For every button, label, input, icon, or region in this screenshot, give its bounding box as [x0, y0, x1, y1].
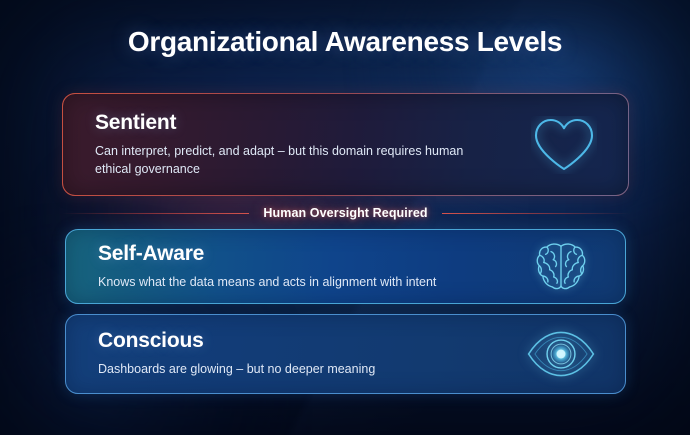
level-card-self-aware-description: Knows what the data means and acts in al…	[98, 273, 498, 291]
heart-icon	[528, 114, 600, 176]
level-card-conscious-body: Conscious Dashboards are glowing – but n…	[98, 315, 505, 393]
level-card-sentient-heading: Sentient	[95, 111, 508, 135]
page-title: Organizational Awareness Levels	[0, 26, 690, 58]
level-card-conscious-description: Dashboards are glowing – but no deeper m…	[98, 360, 498, 378]
infographic-slide: Organizational Awareness Levels Sentient…	[0, 0, 690, 435]
level-card-sentient[interactable]: Sentient Can interpret, predict, and ada…	[62, 93, 629, 196]
eye-icon	[525, 323, 597, 385]
brain-icon	[525, 236, 597, 298]
level-card-sentient-body: Sentient Can interpret, predict, and ada…	[95, 94, 508, 195]
level-card-self-aware[interactable]: Self-Aware Knows what the data means and…	[65, 229, 626, 304]
level-card-sentient-description: Can interpret, predict, and adapt – but …	[95, 142, 495, 178]
level-card-conscious[interactable]: Conscious Dashboards are glowing – but n…	[65, 314, 626, 394]
level-card-self-aware-heading: Self-Aware	[98, 242, 505, 266]
level-card-conscious-heading: Conscious	[98, 329, 505, 353]
divider-line-left	[62, 213, 249, 214]
divider-label: Human Oversight Required	[249, 206, 441, 220]
divider: Human Oversight Required	[62, 203, 629, 223]
divider-line-right	[442, 213, 629, 214]
level-card-self-aware-body: Self-Aware Knows what the data means and…	[98, 230, 505, 303]
